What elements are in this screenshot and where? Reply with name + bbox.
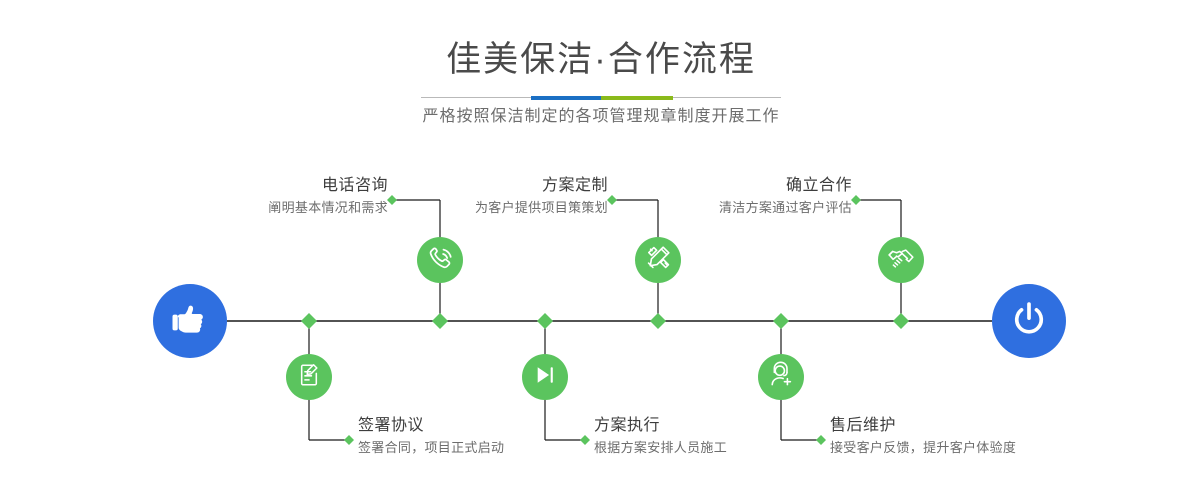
flow-node-2[interactable]	[286, 354, 332, 400]
flow-label-6-desc: 接受客户反馈，提升客户体验度	[830, 437, 1016, 459]
flow-node-5[interactable]	[878, 237, 924, 283]
flow-label-1: 电话咨询 阐明基本情况和需求	[268, 175, 388, 219]
flow-label-2: 签署协议 签署合同，项目正式启动	[358, 415, 504, 459]
process-flow-diagram: 电话咨询 阐明基本情况和需求 签署协议 签署合同，项目正式启动	[0, 140, 1202, 502]
flow-label-1-desc: 阐明基本情况和需求	[268, 197, 388, 219]
pencil-ruler-icon	[645, 244, 672, 276]
page-title: 佳美保洁·合作流程	[0, 38, 1202, 82]
flow-node-4[interactable]	[522, 354, 568, 400]
page-subtitle: 严格按照保洁制定的各项管理规章制度开展工作	[0, 105, 1202, 129]
flow-start-node[interactable]	[153, 284, 227, 358]
divider-segment-green	[601, 96, 673, 100]
handshake-icon	[887, 244, 915, 277]
title-divider	[421, 96, 781, 100]
power-button-icon	[1008, 298, 1050, 345]
flow-label-6: 售后维护 接受客户反馈，提升客户体验度	[830, 415, 1016, 459]
flow-label-5-desc: 清洁方案通过客户评估	[719, 197, 852, 219]
flow-node-3[interactable]	[635, 237, 681, 283]
flow-end-node[interactable]	[992, 284, 1066, 358]
flow-label-5-title: 确立合作	[719, 175, 852, 197]
phone-call-icon	[426, 244, 454, 277]
flow-label-4-title: 方案执行	[594, 415, 727, 437]
play-execute-icon	[532, 362, 558, 393]
flow-label-3: 方案定制 为客户提供项目策策划	[475, 175, 608, 219]
flow-label-6-title: 售后维护	[830, 415, 1016, 437]
flow-label-4-desc: 根据方案安排人员施工	[594, 437, 727, 459]
pointing-hand-icon	[169, 298, 211, 345]
flow-label-1-title: 电话咨询	[268, 175, 388, 197]
customer-support-add-icon	[768, 361, 795, 393]
document-sign-icon	[296, 362, 322, 393]
flow-node-1[interactable]	[417, 237, 463, 283]
flow-label-4: 方案执行 根据方案安排人员施工	[594, 415, 727, 459]
flow-label-2-desc: 签署合同，项目正式启动	[358, 437, 504, 459]
flow-label-3-desc: 为客户提供项目策策划	[475, 197, 608, 219]
divider-segment-blue	[531, 96, 601, 100]
flow-node-6[interactable]	[758, 354, 804, 400]
page-header: 佳美保洁·合作流程 严格按照保洁制定的各项管理规章制度开展工作	[0, 0, 1202, 140]
flow-label-2-title: 签署协议	[358, 415, 504, 437]
flow-label-5: 确立合作 清洁方案通过客户评估	[719, 175, 852, 219]
flow-label-3-title: 方案定制	[475, 175, 608, 197]
